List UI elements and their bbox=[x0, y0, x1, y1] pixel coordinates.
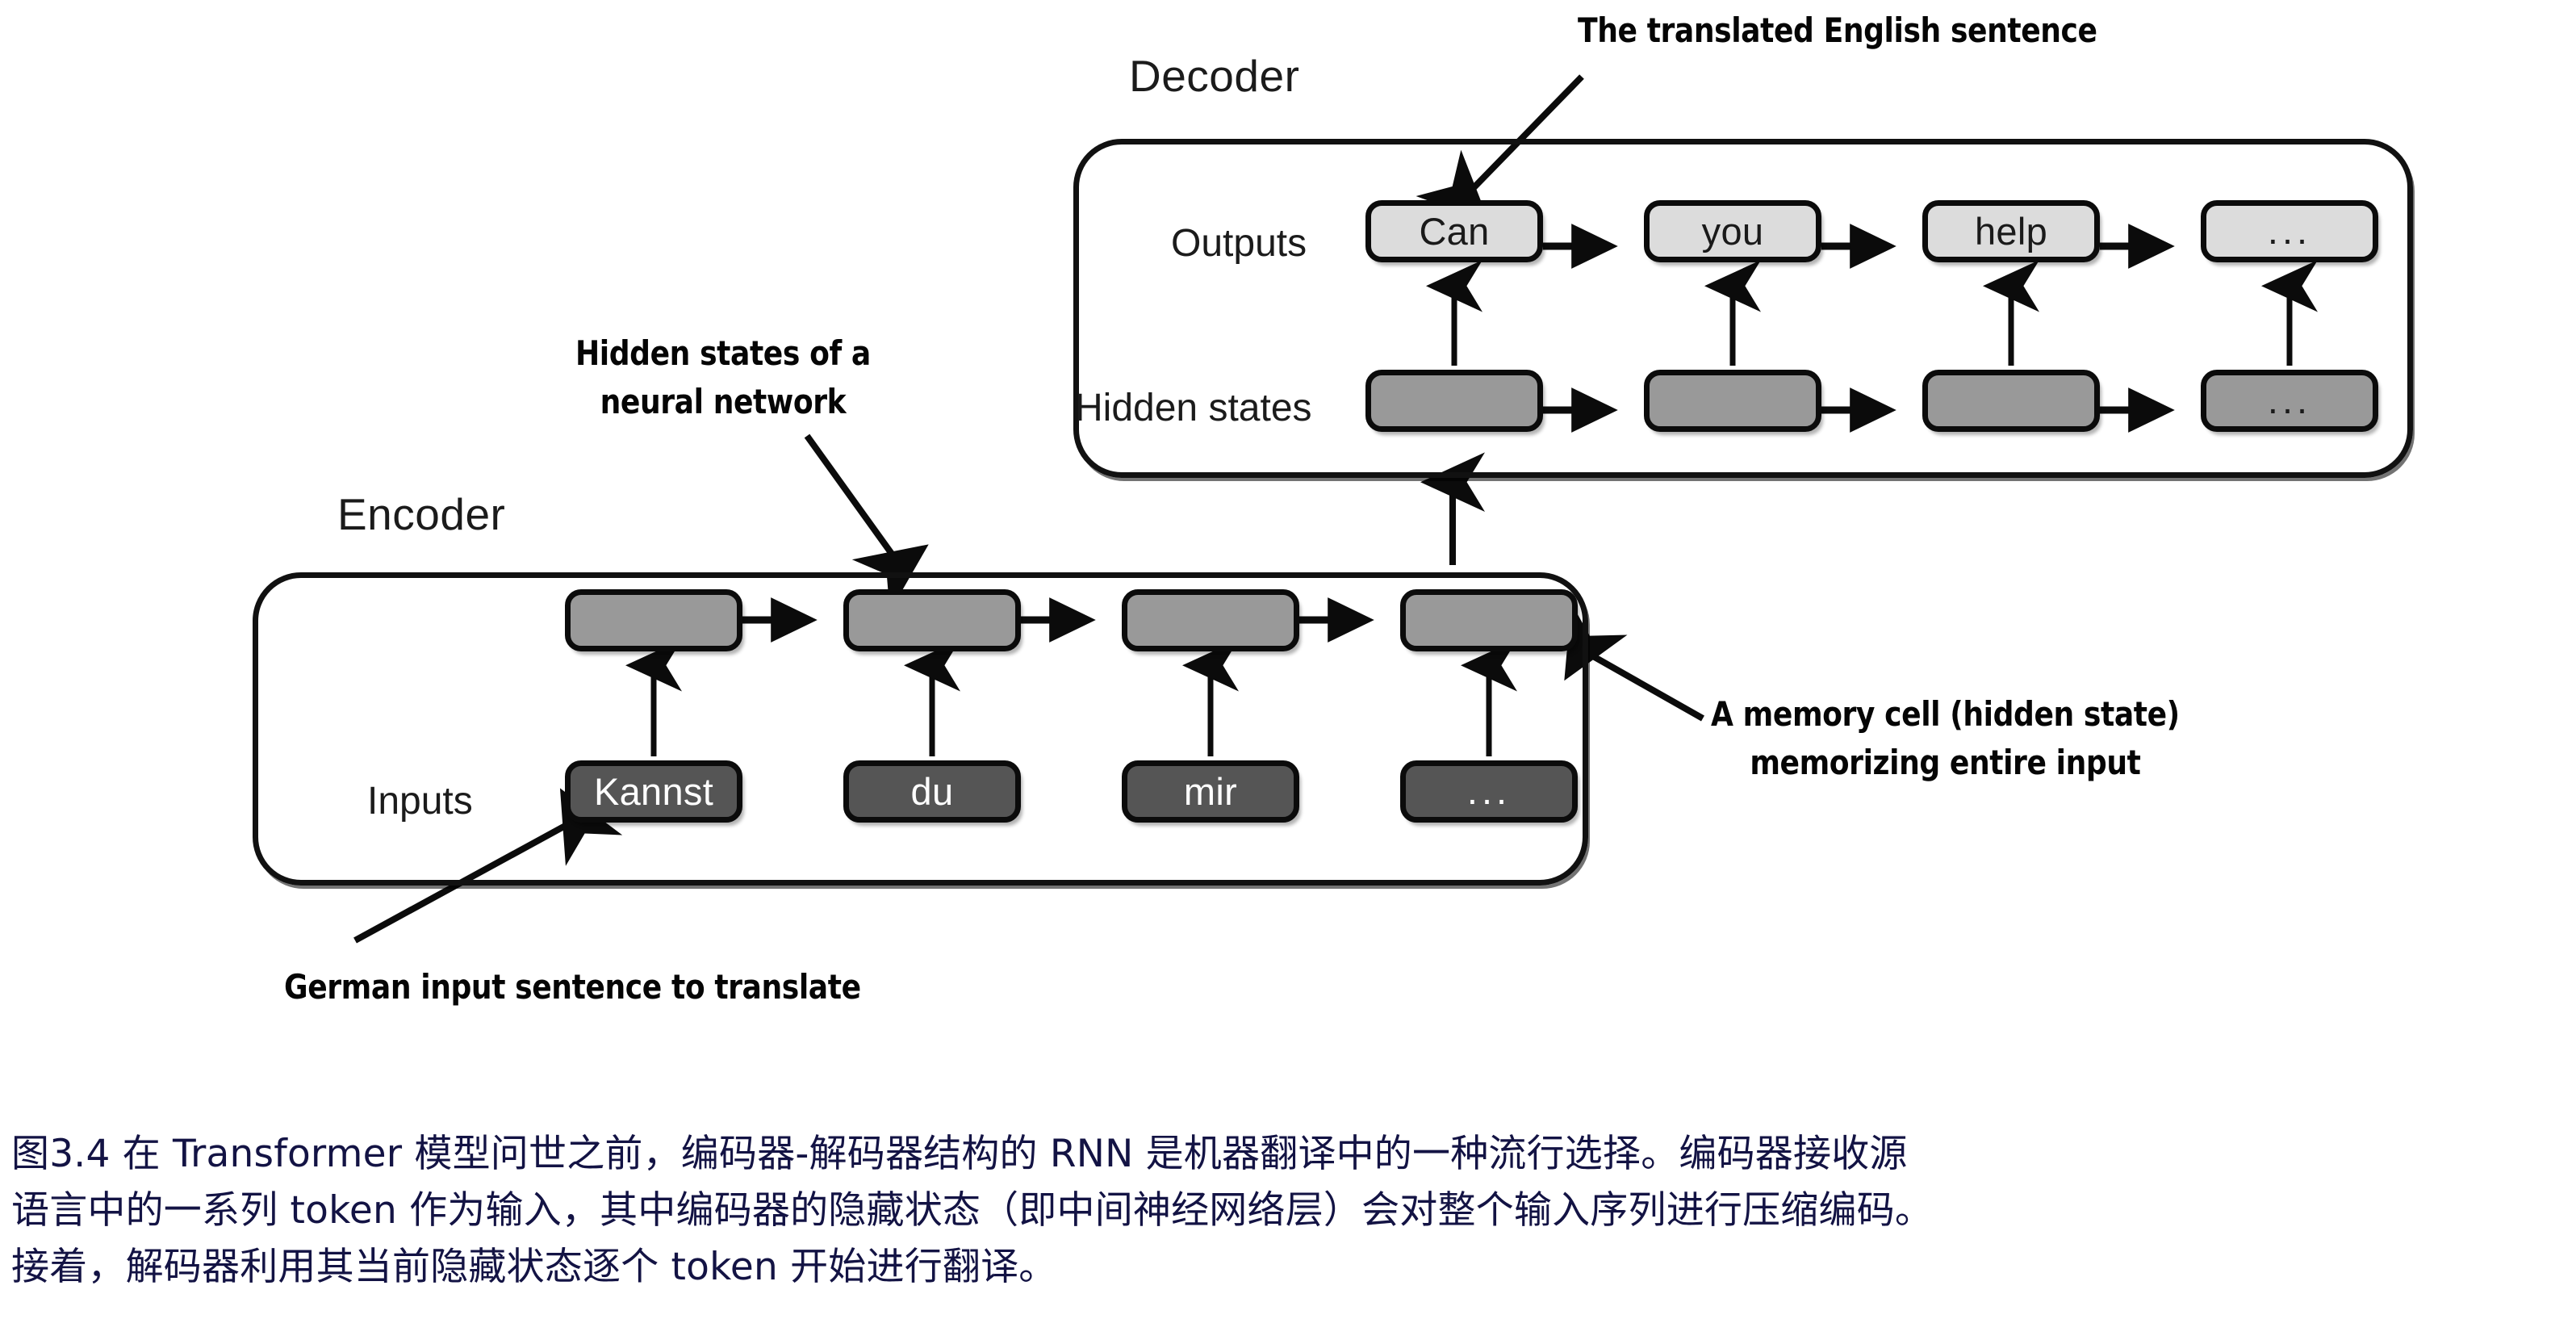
figure-caption-line-2: 语言中的一系列 token 作为输入，其中编码器的隐藏状态（即中间神经网络层）会… bbox=[11, 1183, 2570, 1239]
figure-caption-line-1: 图3.4 在 Transformer 模型问世之前，编码器-解码器结构的 RNN… bbox=[11, 1126, 2570, 1183]
decoder-output-cell-1: Can bbox=[1365, 200, 1543, 262]
callout-german-input: German input sentence to translate bbox=[284, 963, 861, 1011]
encoder-title: Encoder bbox=[337, 488, 505, 540]
callout-hidden-states: Hidden states of a neural network bbox=[575, 329, 871, 425]
encoder-input-cell-1: Kannst bbox=[565, 760, 742, 823]
decoder-output-cell-2: you bbox=[1644, 200, 1821, 262]
decoder-hidden-cell-2 bbox=[1644, 370, 1821, 432]
figure-caption: 图3.4 在 Transformer 模型问世之前，编码器-解码器结构的 RNN… bbox=[11, 1126, 2570, 1296]
ellipsis-glyph: ... bbox=[1467, 784, 1511, 799]
encoder-input-cell-2: du bbox=[843, 760, 1021, 823]
encoder-hidden-cell-4 bbox=[1400, 589, 1578, 651]
callout-memory-cell-line1: A memory cell (hidden state) bbox=[1711, 694, 2180, 734]
decoder-hidden-cell-4: ... bbox=[2201, 370, 2378, 432]
decoder-title: Decoder bbox=[1129, 50, 1299, 102]
callout-hidden-states-line2: neural network bbox=[575, 378, 871, 426]
rnn-encoder-decoder-diagram: Encoder Decoder Outputs Hidden states In… bbox=[0, 0, 2576, 1074]
row-label-hidden-states: Hidden states bbox=[1075, 386, 1312, 430]
row-label-outputs: Outputs bbox=[1171, 221, 1307, 266]
row-label-inputs: Inputs bbox=[367, 779, 473, 823]
ellipsis-glyph: ... bbox=[2268, 393, 2311, 408]
callout-memory-cell: A memory cell (hidden state) memorizing … bbox=[1711, 690, 2180, 786]
encoder-input-cell-3: mir bbox=[1122, 760, 1299, 823]
decoder-hidden-cell-1 bbox=[1365, 370, 1543, 432]
decoder-output-cell-3: help bbox=[1922, 200, 2100, 262]
encoder-input-cell-4: ... bbox=[1400, 760, 1578, 823]
encoder-hidden-cell-3 bbox=[1122, 589, 1299, 651]
encoder-hidden-cell-1 bbox=[565, 589, 742, 651]
decoder-hidden-cell-3 bbox=[1922, 370, 2100, 432]
callout-memory-cell-line2: memorizing entire input bbox=[1711, 739, 2180, 787]
figure-caption-line-3: 接着，解码器利用其当前隐藏状态逐个 token 开始进行翻译。 bbox=[11, 1239, 2570, 1296]
callout-hidden-states-line1: Hidden states of a bbox=[575, 333, 871, 373]
encoder-hidden-cell-2 bbox=[843, 589, 1021, 651]
callout-translated-sentence: The translated English sentence bbox=[1578, 6, 2097, 55]
ellipsis-glyph: ... bbox=[2268, 224, 2311, 239]
decoder-output-cell-4: ... bbox=[2201, 200, 2378, 262]
